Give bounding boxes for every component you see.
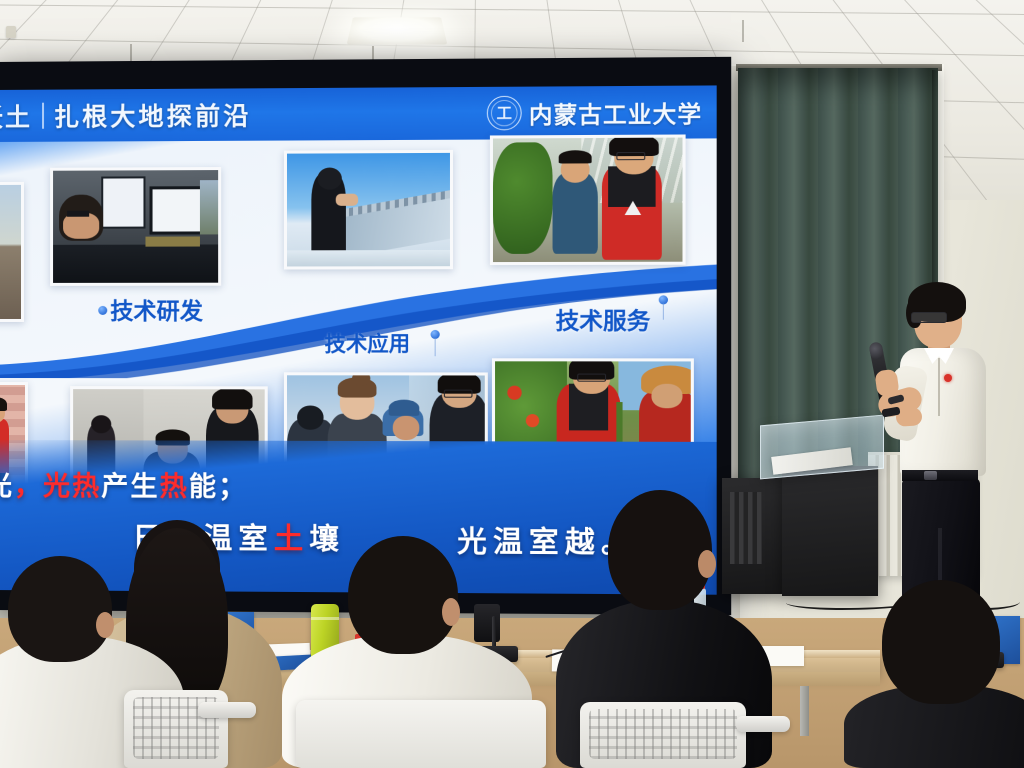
audience-1-head [8, 556, 112, 662]
title-divider [42, 103, 44, 129]
slide-footer-line-1: 阳光，光热产生热能； [0, 464, 247, 504]
footer-text-1b: ，光热 [14, 471, 101, 502]
chair-right-armrest[interactable] [736, 716, 790, 732]
caption-tech-rd: 技术研发 [110, 292, 203, 326]
university-seal-icon: 工 [487, 96, 522, 131]
university-brand: 工 内蒙古工业大学 [487, 95, 702, 131]
slide-title-right: 扎根大地探前沿 [54, 96, 251, 133]
caption-dot-1 [98, 306, 107, 315]
ceiling-led-panel-light [347, 17, 448, 44]
footer-text-1e: 能； [189, 472, 248, 503]
audience-3-head [348, 536, 458, 654]
presenter-shirt-placket [938, 358, 940, 416]
audience-4-ear [698, 550, 716, 578]
footer-text-1d: 热 [160, 472, 189, 503]
photo-greenhouse-visit [490, 134, 686, 265]
chair-right[interactable] [580, 702, 746, 768]
av-cabinet-right [782, 466, 878, 596]
audience-1-ear [96, 612, 114, 638]
footer-text-1c: 产生 [101, 471, 159, 502]
photo-winter-greenhouse [284, 150, 453, 270]
slide-header-bar: 沃土 扎根大地探前沿 工 内蒙古工业大学 [0, 85, 717, 142]
audience-5-head [882, 580, 1000, 704]
footer-text-1a: 阳光 [0, 471, 14, 502]
chair-left-armrest[interactable] [198, 702, 256, 718]
chair-center[interactable] [296, 700, 546, 768]
caption-stick-2 [435, 338, 436, 356]
presenter-belt-buckle [924, 471, 937, 480]
photo-researcher-desk [50, 167, 221, 286]
glasses-icon [911, 312, 947, 323]
chair-right-mesh [589, 709, 737, 759]
photo-field-site [0, 182, 24, 322]
presenter-lapel-pin [944, 374, 952, 382]
caption-tech-application: 技术应用 [325, 328, 411, 358]
conference-room-scene: 沃土 扎根大地探前沿 工 内蒙古工业大学 [0, 0, 1024, 768]
university-name: 内蒙古工业大学 [529, 95, 702, 131]
audience-member-5 [844, 580, 1024, 768]
audience-4-head [608, 490, 712, 610]
desk-leg-back-2 [800, 686, 809, 736]
audience-3-ear [442, 598, 460, 626]
presenter-speaking [880, 278, 1010, 623]
caption-tech-service: 技术服务 [556, 301, 651, 336]
caption-stick-3 [663, 303, 664, 319]
presenter-belt [902, 470, 978, 481]
slide-title-left: 沃土 [0, 98, 32, 134]
